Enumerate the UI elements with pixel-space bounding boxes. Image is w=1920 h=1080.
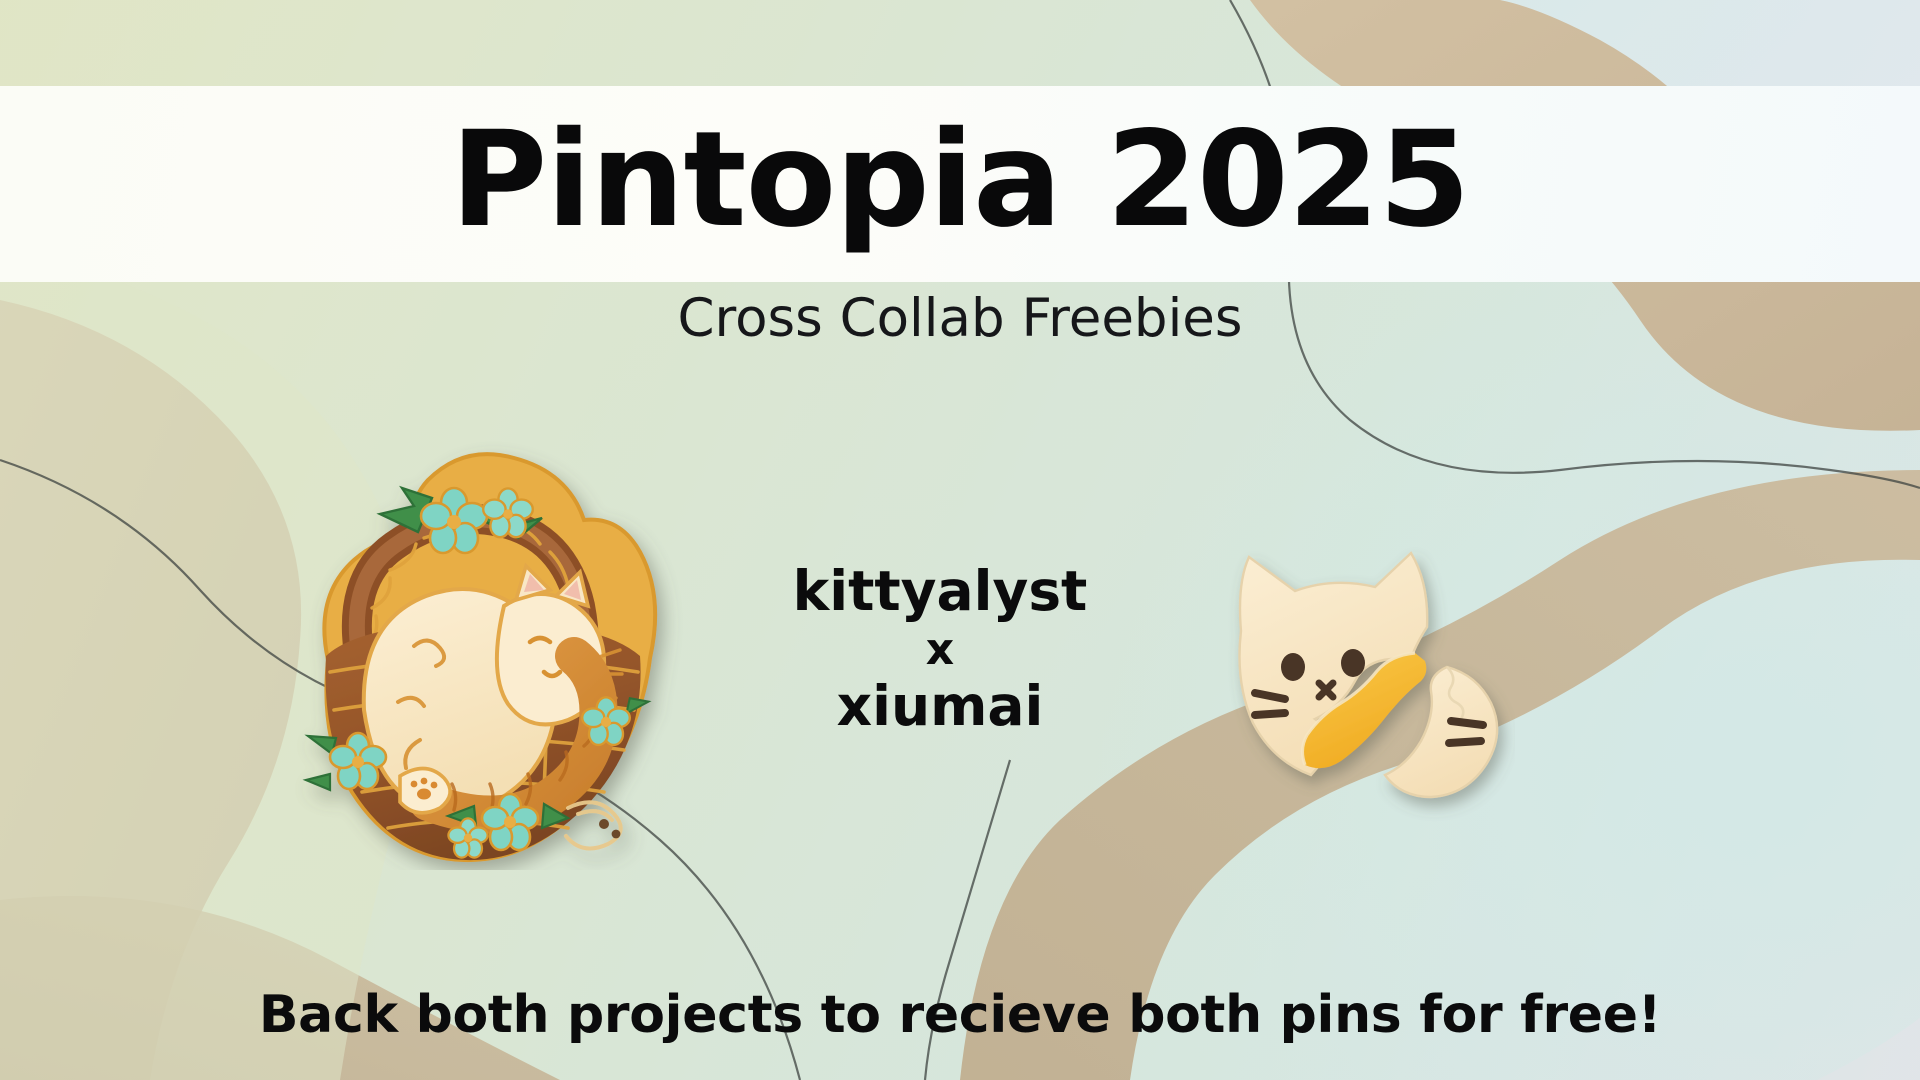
creator-name-second: xiumai	[760, 675, 1120, 739]
page-title: Pintopia 2025	[451, 114, 1470, 246]
poster-canvas: Pintopia 2025 Cross Collab Freebies	[0, 0, 1920, 1080]
call-to-action-text: Back both projects to recieve both pins …	[0, 985, 1920, 1045]
basket-pin-body	[306, 454, 655, 860]
cat-cookie-pin-image	[1215, 535, 1515, 825]
subtitle: Cross Collab Freebies	[0, 288, 1920, 349]
title-banner: Pintopia 2025	[0, 86, 1920, 282]
cat-basket-pin-image	[268, 410, 688, 870]
creator-name-first: kittyalyst	[760, 560, 1120, 624]
collab-separator: x	[760, 624, 1120, 675]
cookie-pin-body	[1240, 553, 1498, 797]
collab-credit-block: kittyalyst x xiumai	[760, 560, 1120, 739]
